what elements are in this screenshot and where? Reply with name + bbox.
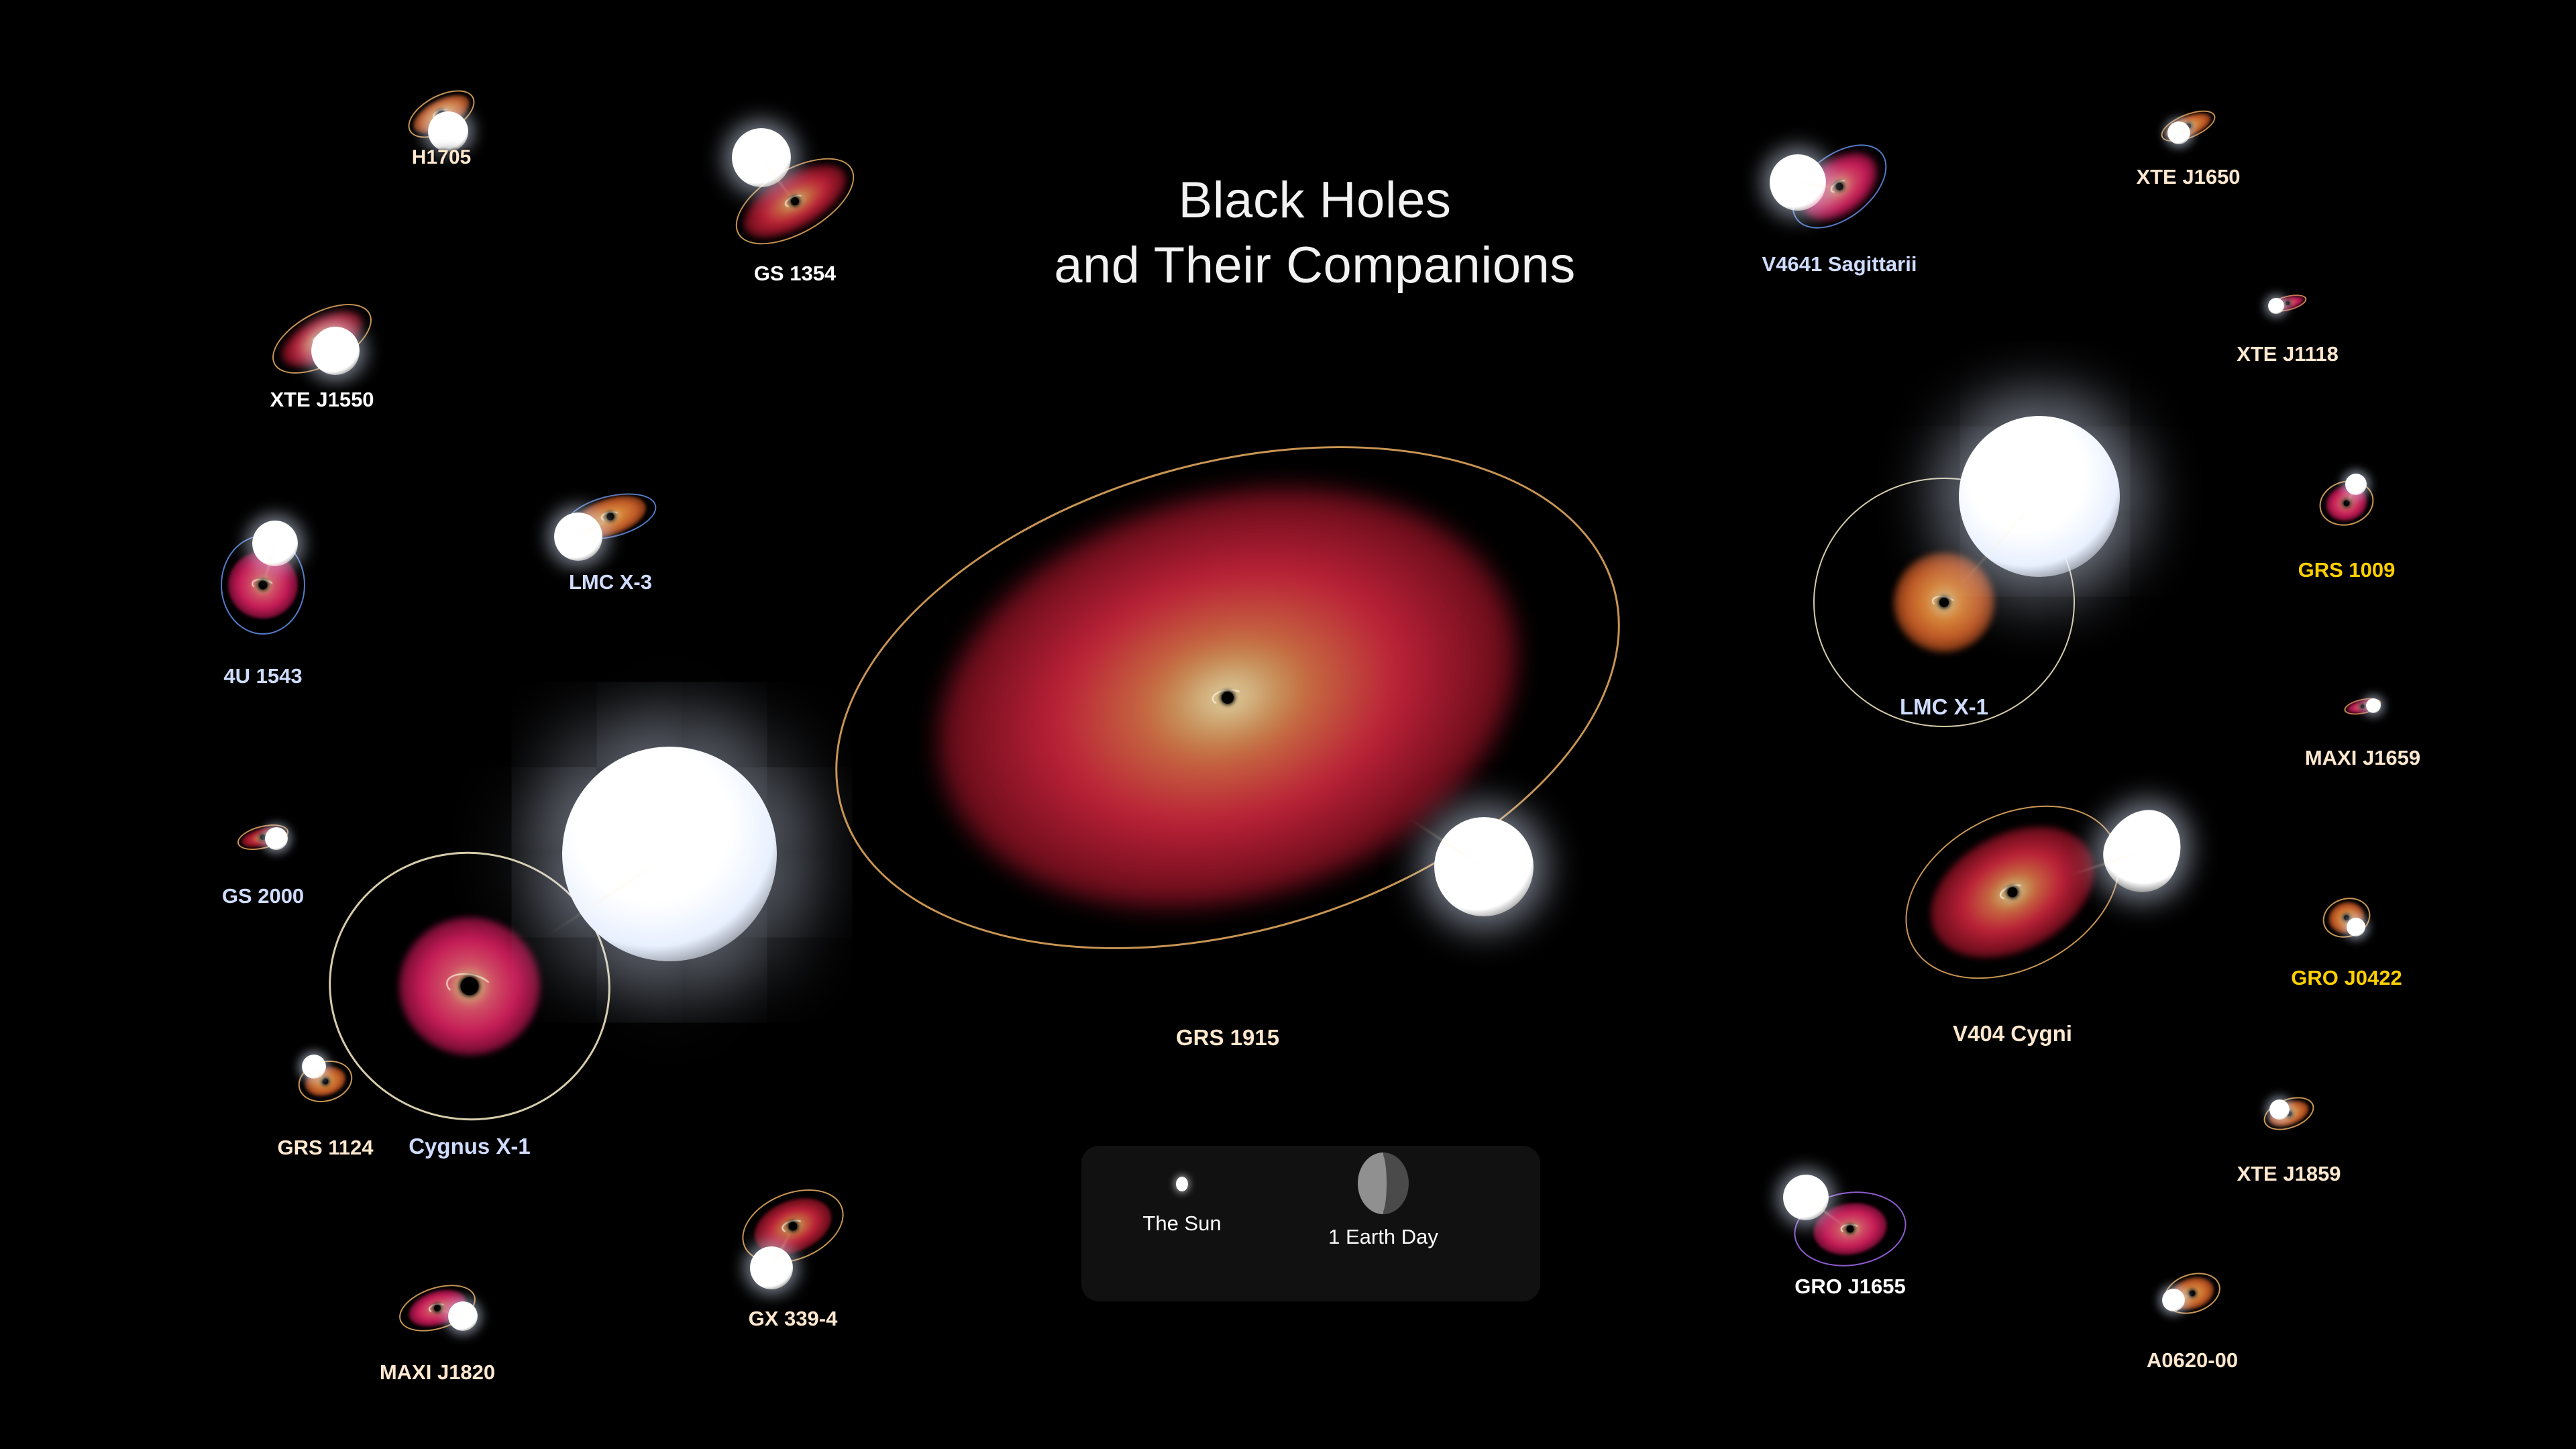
system-label-gs1354[interactable]: GS 1354 — [754, 262, 836, 286]
system-art — [2330, 686, 2395, 727]
system-label-grs1124[interactable]: GRS 1124 — [277, 1136, 373, 1160]
system-label-grs1009[interactable]: GRS 1009 — [2298, 558, 2396, 582]
starfield-canvas: Black Holes and Their Companions H1705GS… — [0, 0, 2576, 1449]
system-label-groj0422[interactable]: GRO J0422 — [2291, 966, 2402, 990]
companion-star — [428, 111, 468, 152]
system-label-groj1655[interactable]: GRO J1655 — [1794, 1275, 1905, 1299]
companion-star — [1959, 416, 2120, 577]
system-label-v404cygni[interactable]: V404 Cygni — [1953, 1021, 2072, 1046]
system-label-lmcx3[interactable]: LMC X-3 — [569, 570, 652, 594]
system-art — [727, 1179, 859, 1273]
companion-star — [2366, 698, 2381, 713]
companion-star — [2347, 918, 2365, 936]
black-hole — [461, 977, 479, 996]
scale-legend-panel: The Sun 1 Earth Day — [1081, 1146, 1540, 1301]
system-art — [2249, 1085, 2328, 1142]
system-label-xtej1550[interactable]: XTE J1550 — [270, 388, 374, 412]
system-label-lmcx1[interactable]: LMC X-1 — [1900, 694, 1988, 720]
system-label-maxij1820[interactable]: MAXI J1820 — [380, 1360, 495, 1385]
black-hole — [2361, 704, 2365, 708]
black-hole — [2286, 301, 2290, 305]
system-label-a062000[interactable]: A0620-00 — [2147, 1348, 2238, 1373]
black-hole — [1222, 692, 1234, 704]
system-label-xtej1650[interactable]: XTE J1650 — [2136, 165, 2240, 189]
legend-label-sun: The Sun — [1102, 1212, 1263, 1236]
black-hole — [1939, 598, 1949, 607]
system-art — [2309, 885, 2384, 951]
system-label-gx3394[interactable]: GX 339-4 — [749, 1307, 838, 1331]
companion-star — [2345, 474, 2367, 495]
companion-star — [252, 521, 298, 566]
system-label-4u1543[interactable]: 4U 1543 — [223, 664, 302, 688]
black-hole — [2344, 915, 2349, 920]
system-label-v4641sgr[interactable]: V4641 Sagittarii — [1762, 252, 1917, 276]
system-label-h1705[interactable]: H1705 — [412, 146, 471, 169]
companion-star — [2268, 298, 2284, 314]
title-line-2: and Their Companions — [1033, 233, 1597, 298]
system-label-maxij1659[interactable]: MAXI J1659 — [2305, 746, 2420, 770]
legend-item-earth-day: 1 Earth Day — [1283, 1152, 1484, 1249]
companion-star — [2269, 1099, 2290, 1120]
title-line-1: Black Holes — [1179, 172, 1452, 229]
companion-star — [562, 747, 777, 961]
half-lit-sphere-icon — [1358, 1152, 1409, 1214]
legend-label-earth-day: 1 Earth Day — [1283, 1225, 1484, 1249]
system-art — [1885, 802, 2140, 983]
system-art — [2150, 1260, 2235, 1326]
system-label-xtej1118[interactable]: XTE J1118 — [2237, 342, 2339, 366]
system-label-gs2000[interactable]: GS 2000 — [222, 884, 304, 908]
page-title: Black Holes and Their Companions — [1033, 168, 1597, 299]
companion-star — [311, 327, 360, 375]
system-label-xtej1859[interactable]: XTE J1859 — [2237, 1162, 2341, 1186]
sun-dot-icon — [1176, 1177, 1188, 1191]
system-label-cygnusx1[interactable]: Cygnus X-1 — [409, 1134, 531, 1159]
legend-item-sun: The Sun — [1102, 1177, 1263, 1236]
system-art — [2255, 282, 2320, 324]
system-label-grs1915[interactable]: GRS 1915 — [1176, 1025, 1279, 1051]
black-hole — [2008, 888, 2018, 898]
